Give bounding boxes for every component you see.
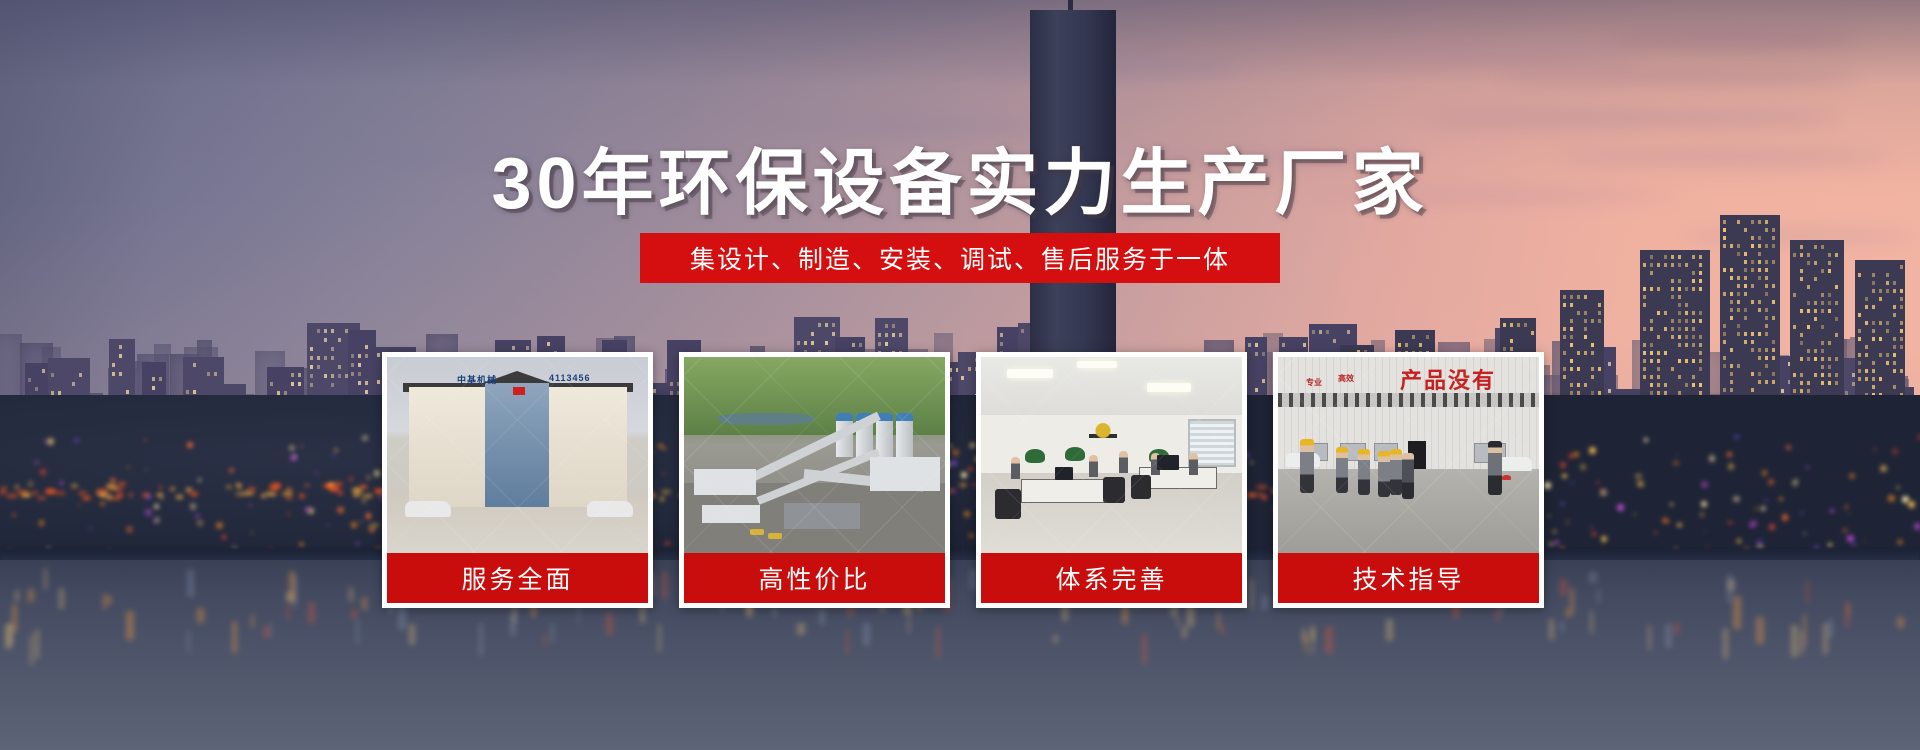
feature-card[interactable]: 中基机械 4113456 服务全面 (382, 352, 653, 608)
card-photo-wall-slogan-small-1: 专业 (1306, 377, 1322, 388)
feature-card-list: 中基机械 4113456 服务全面 (382, 352, 1542, 608)
card-photo-company-office-building-with-staff: 中基机械 4113456 (387, 357, 648, 553)
card-label: 高性价比 (684, 553, 945, 603)
hero-banner: 30年环保设备实力生产厂家 集设计、制造、安装、调试、售后服务于一体 中基机械 … (0, 0, 1920, 750)
card-photo-wall-slogan: 产品没有 (1400, 363, 1496, 395)
card-photo-factory-yard-workers-briefing: 产品没有 专业 高效 (1278, 357, 1539, 553)
page-title: 30年环保设备实力生产厂家 (0, 124, 1920, 229)
card-photo-phone-text: 4113456 (549, 373, 591, 383)
card-label: 技术指导 (1278, 553, 1539, 603)
feature-card[interactable]: 体系完善 (976, 352, 1247, 608)
subtitle-text: 集设计、制造、安装、调试、售后服务于一体 (690, 240, 1230, 276)
subtitle-banner: 集设计、制造、安装、调试、售后服务于一体 (640, 233, 1280, 283)
feature-card[interactable]: 高性价比 (679, 352, 950, 608)
card-photo-office-interior-with-employees (981, 357, 1242, 553)
card-photo-aerial-view-of-production-plant (684, 357, 945, 553)
feature-card[interactable]: 产品没有 专业 高效 (1273, 352, 1544, 608)
card-label: 体系完善 (981, 553, 1242, 603)
card-photo-sign-text: 中基机械 (457, 373, 497, 386)
card-photo-wall-slogan-small-2: 高效 (1338, 373, 1354, 384)
card-label: 服务全面 (387, 553, 648, 603)
